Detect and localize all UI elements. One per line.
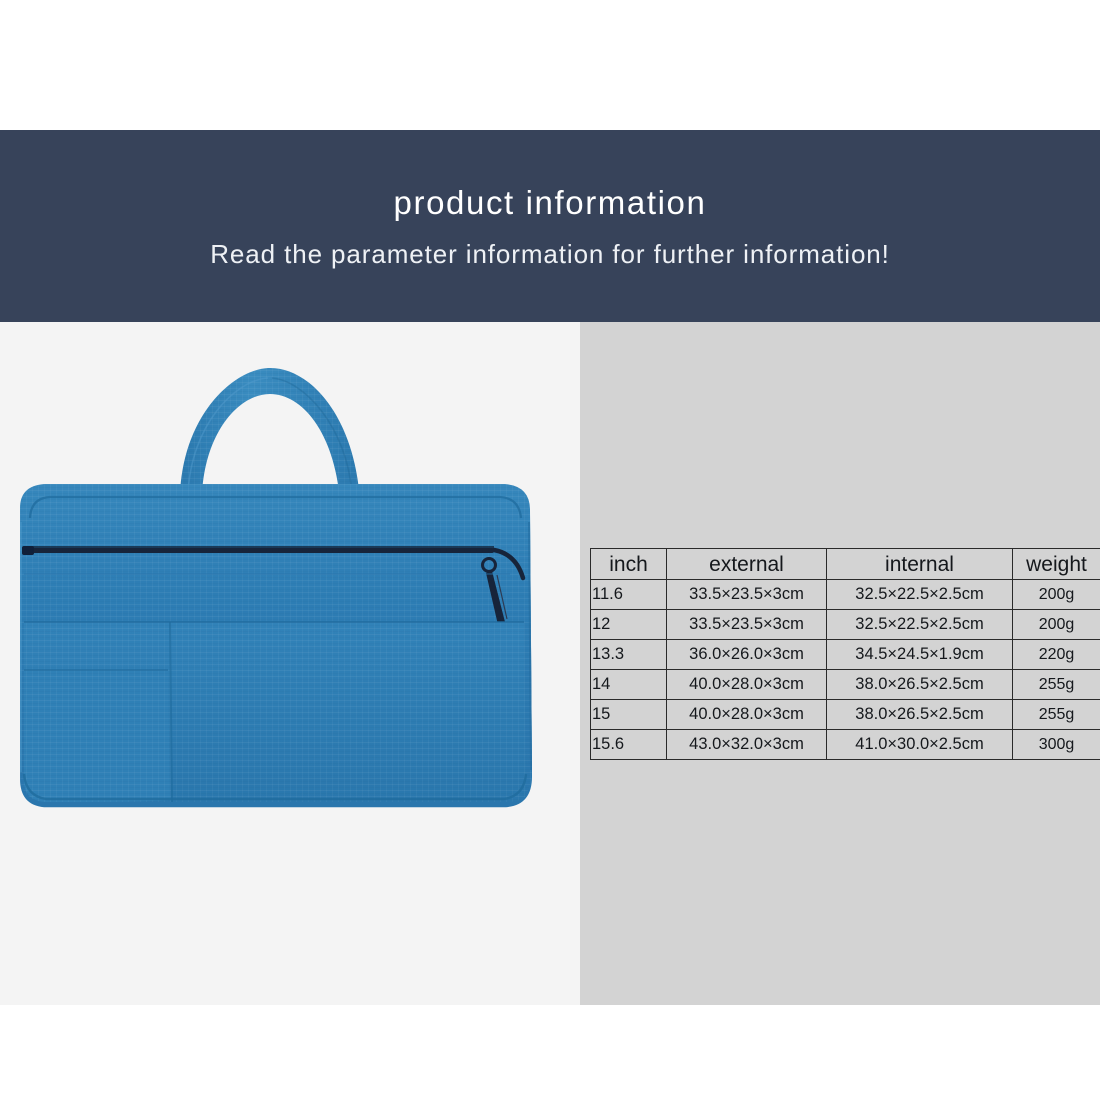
cell-external: 33.5×23.5×3cm [667,580,827,610]
cell-internal: 34.5×24.5×1.9cm [827,640,1013,670]
spec-table-container: inch external internal weight 11.6 33.5×… [590,548,1100,760]
cell-external: 40.0×28.0×3cm [667,670,827,700]
left-slip-pocket [24,670,170,802]
cell-internal: 32.5×22.5×2.5cm [827,610,1013,640]
column-header-weight: weight [1013,549,1100,580]
table-row: 12 33.5×23.5×3cm 32.5×22.5×2.5cm 200g [591,610,1100,640]
product-information-page: product information Read the parameter i… [0,0,1100,1100]
column-header-internal: internal [827,549,1013,580]
cell-external: 33.5×23.5×3cm [667,610,827,640]
page-subtitle: Read the parameter information for furth… [210,241,890,267]
cell-weight: 255g [1013,700,1100,730]
table-row: 13.3 36.0×26.0×3cm 34.5×24.5×1.9cm 220g [591,640,1100,670]
laptop-bag-image [0,322,580,1005]
table-row: 15.6 43.0×32.0×3cm 41.0×30.0×2.5cm 300g [591,730,1100,760]
cell-inch: 12 [591,610,667,640]
spec-panel: inch external internal weight 11.6 33.5×… [580,322,1100,1005]
cell-inch: 15.6 [591,730,667,760]
table-row: 11.6 33.5×23.5×3cm 32.5×22.5×2.5cm 200g [591,580,1100,610]
cell-inch: 13.3 [591,640,667,670]
cell-inch: 11.6 [591,580,667,610]
table-row: 14 40.0×28.0×3cm 38.0×26.5×2.5cm 255g [591,670,1100,700]
cell-external: 40.0×28.0×3cm [667,700,827,730]
cell-internal: 38.0×26.5×2.5cm [827,700,1013,730]
cell-weight: 255g [1013,670,1100,700]
column-header-external: external [667,549,827,580]
bag-illustration [0,322,580,1005]
spec-table: inch external internal weight 11.6 33.5×… [590,548,1100,760]
cell-weight: 200g [1013,610,1100,640]
cell-external: 43.0×32.0×3cm [667,730,827,760]
table-header-row: inch external internal weight [591,549,1100,580]
spec-table-body: 11.6 33.5×23.5×3cm 32.5×22.5×2.5cm 200g … [591,580,1100,760]
cell-internal: 41.0×30.0×2.5cm [827,730,1013,760]
cell-inch: 15 [591,700,667,730]
table-row: 15 40.0×28.0×3cm 38.0×26.5×2.5cm 255g [591,700,1100,730]
column-header-inch: inch [591,549,667,580]
page-title: product information [394,186,707,219]
product-image-panel [0,322,580,1005]
cell-internal: 38.0×26.5×2.5cm [827,670,1013,700]
cell-inch: 14 [591,670,667,700]
cell-external: 36.0×26.0×3cm [667,640,827,670]
cell-weight: 220g [1013,640,1100,670]
spec-table-head: inch external internal weight [591,549,1100,580]
cell-internal: 32.5×22.5×2.5cm [827,580,1013,610]
cell-weight: 300g [1013,730,1100,760]
cell-weight: 200g [1013,580,1100,610]
banner: product information Read the parameter i… [0,130,1100,322]
